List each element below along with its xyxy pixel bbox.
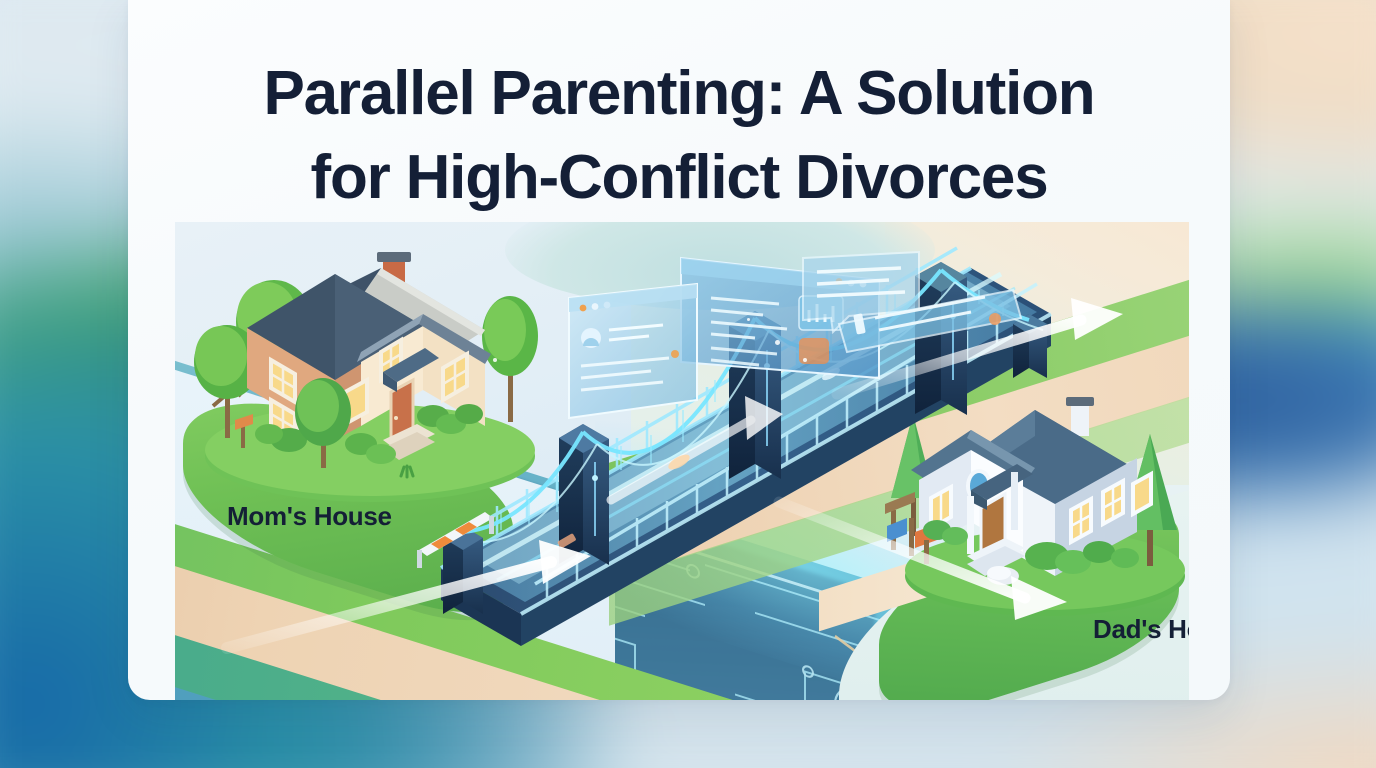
hero-card: Parallel Parenting: A Solution for High-… xyxy=(128,0,1230,700)
sparkle xyxy=(803,358,807,362)
hero-illustration: Mom's House Dad's House xyxy=(175,222,1189,700)
label-dad-house: Dad's House xyxy=(1093,614,1189,645)
label-mom-house: Mom's House xyxy=(227,501,392,532)
sparkle xyxy=(493,358,497,362)
title-line-2: for High-Conflict Divorces xyxy=(168,136,1190,220)
page-title: Parallel Parenting: A Solution for High-… xyxy=(128,52,1230,220)
sparkle xyxy=(775,340,780,345)
title-line-1: Parallel Parenting: A Solution xyxy=(168,52,1190,136)
holo-message-card xyxy=(835,288,1025,368)
sparkle xyxy=(747,318,750,321)
